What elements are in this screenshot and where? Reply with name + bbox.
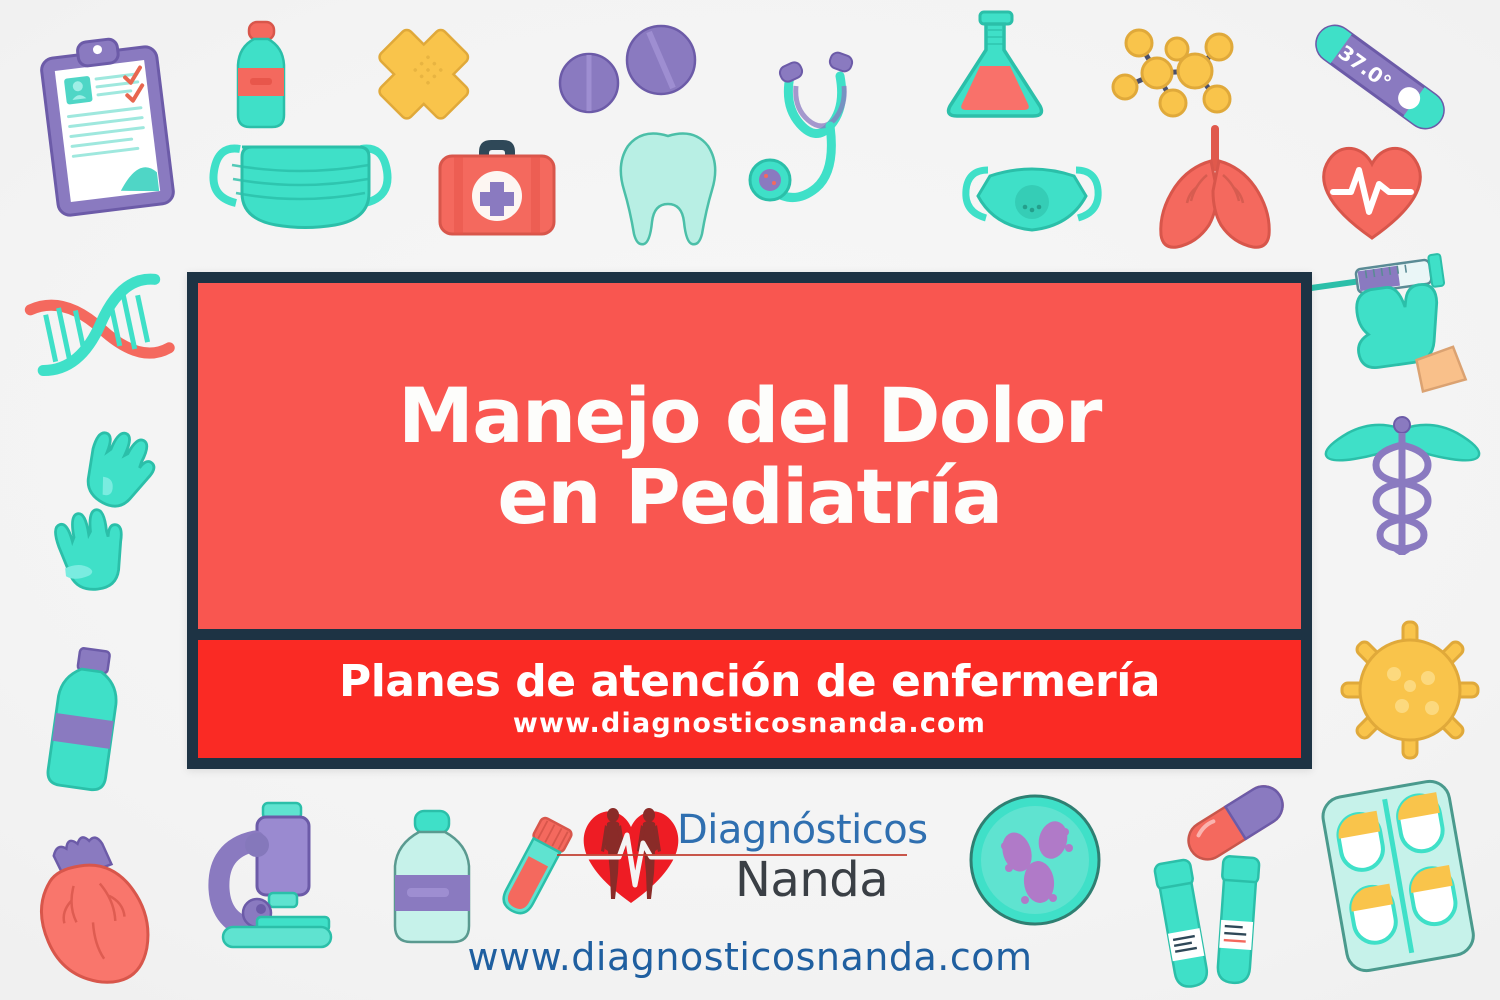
syringe-hand-icon: [1310, 245, 1475, 395]
brand-logo: Diagnósticos Nanda: [575, 795, 945, 915]
brand-line-two: Nanda: [735, 856, 928, 904]
poster-subtitle-band: Planes de atención de enfermería www.dia…: [198, 640, 1301, 758]
brand-line-one: Diagnósticos: [677, 810, 928, 850]
brand-underline: [557, 854, 907, 856]
n95-mask-icon: [962, 158, 1102, 238]
first-aid-kit-icon: [432, 130, 562, 240]
blood-tube-icon: [490, 815, 580, 930]
bandage-icon: [383, 25, 473, 115]
dna-icon: [24, 278, 174, 383]
page-title: Manejo del Dolor en Pediatría: [340, 375, 1160, 538]
surgical-mask-icon: [208, 135, 393, 230]
stethoscope-icon: [752, 28, 897, 218]
virus-icon: [1340, 620, 1480, 760]
bottle-purple-icon: [38, 645, 130, 800]
microscope-icon: [195, 795, 340, 950]
molecule-icon: [1105, 15, 1240, 125]
poster-subtitle: Planes de atención de enfermería: [339, 659, 1160, 705]
poster-card: Manejo del Dolor en Pediatría Planes de …: [187, 272, 1312, 769]
brand-wordmark: Diagnósticos Nanda: [677, 806, 928, 904]
clipboard-icon: [35, 32, 180, 222]
lungs-icon: [1145, 125, 1285, 250]
poster-band-url: www.diagnosticosnanda.com: [513, 708, 986, 739]
glove-second-icon: [40, 506, 135, 606]
tooth-icon: [618, 130, 718, 245]
flask-icon: [940, 10, 1050, 125]
thermometer-icon: 37.0°: [1300, 15, 1460, 140]
poster-title-panel: Manejo del Dolor en Pediatría: [198, 283, 1301, 629]
pill-icon: [558, 52, 620, 114]
footer-website-url: www.diagnosticosnanda.com: [0, 935, 1500, 979]
heart-ecg-icon: [1313, 140, 1431, 245]
caduceus-icon: [1320, 415, 1485, 565]
vial-icon: [385, 805, 480, 950]
capsule-icon: [1175, 782, 1295, 862]
petri-dish-icon: [965, 790, 1105, 930]
pill-large-icon: [625, 24, 697, 96]
medicine-bottle-icon: [218, 20, 304, 135]
